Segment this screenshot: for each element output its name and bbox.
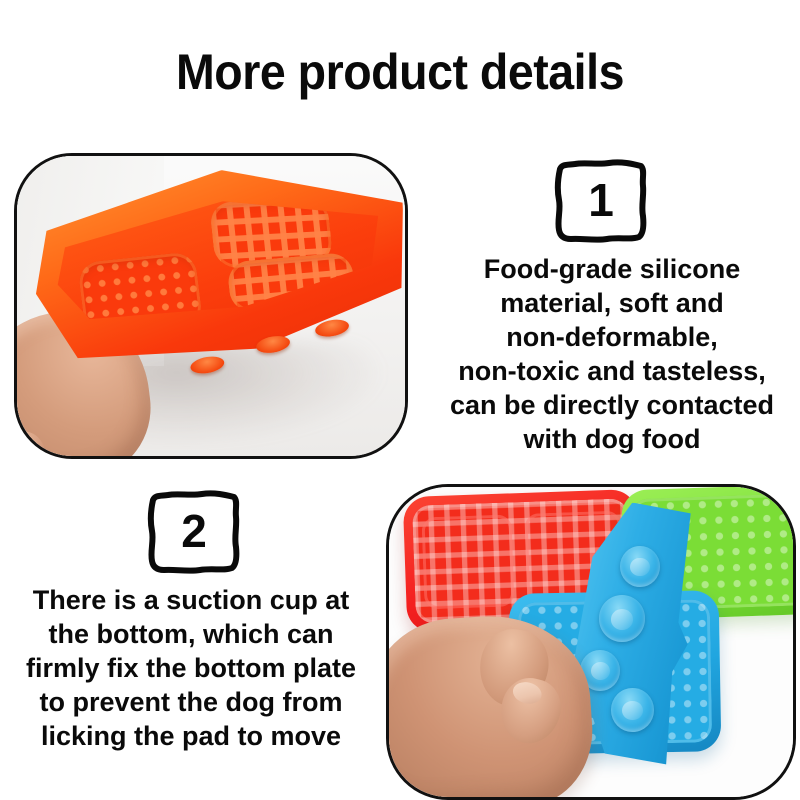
finger xyxy=(17,430,48,456)
page-title: More product details xyxy=(28,44,772,100)
mat-zone xyxy=(421,514,515,609)
step-badge-2: 2 xyxy=(146,489,242,575)
step-badge-2-number: 2 xyxy=(146,489,242,575)
product-photo-suction-cups xyxy=(386,484,796,800)
step-badge-1: 1 xyxy=(553,158,649,244)
photo-suction-content xyxy=(389,487,793,797)
suction-cup xyxy=(611,688,654,732)
step-1-description: Food-grade silicone material, soft and n… xyxy=(424,252,800,456)
suction-cup xyxy=(620,546,660,587)
photo-orange-content xyxy=(17,156,405,456)
suction-cup xyxy=(190,354,225,375)
step-badge-1-number: 1 xyxy=(553,158,649,244)
step-2-description: There is a suction cup at the bottom, wh… xyxy=(2,583,380,753)
product-photo-orange-mat xyxy=(14,153,408,459)
suction-cup xyxy=(599,595,645,641)
infographic-page: More product details xyxy=(0,0,800,800)
